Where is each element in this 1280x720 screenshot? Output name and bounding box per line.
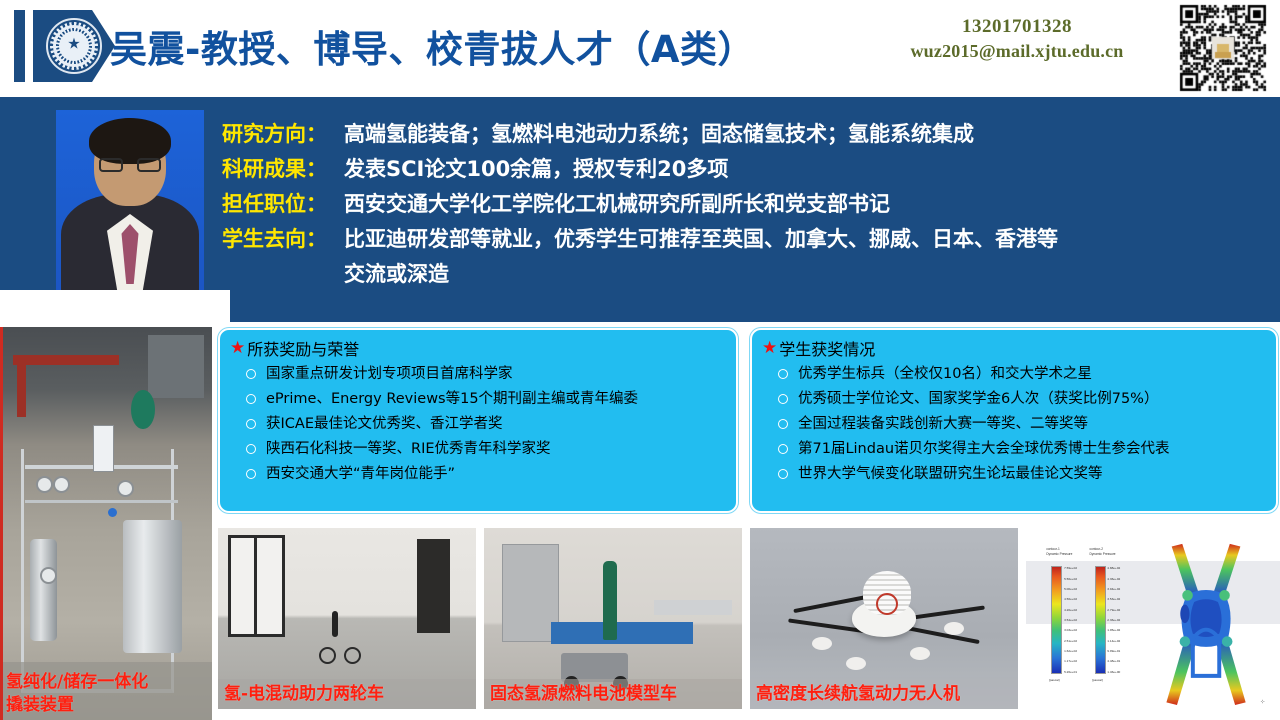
- contact-email: wuz2015@mail.xjtu.edu.cn: [867, 39, 1167, 63]
- cfd-ticks-1: 7.59e+025.56e+025.00e+024.56e+024.20e+02…: [1064, 566, 1097, 674]
- list-item-label: ePrime、Energy Reviews等15个期刊副主编或青年编委: [266, 387, 638, 412]
- list-item: 获ICAE最佳论文优秀奖、香江学者奖: [246, 412, 730, 437]
- photo-hydrogen-electric-hybrid-bike: 氢-电混动助力两轮车: [218, 528, 476, 709]
- star-icon: ★: [762, 340, 777, 357]
- photo-hydrogen-drone: 高密度长续航氢动力无人机: [750, 528, 1018, 709]
- students-box-title: ★ 学生获奖情况: [762, 336, 875, 360]
- list-item: 优秀学生标兵（全校仅10名）和交大学术之星: [778, 362, 1270, 387]
- profile-info-list: 研究方向： 高端氢能装备；氢燃料电池动力系统；固态储氢技术；氢能系统集成 科研成…: [222, 120, 1272, 289]
- awards-list: 国家重点研发计划专项项目首席科学家 ePrime、Energy Reviews等…: [246, 362, 730, 487]
- list-item: 世界大学气候变化联盟研究生论坛最佳论文奖等: [778, 462, 1270, 487]
- circle-bullet-icon: [246, 469, 256, 479]
- profile-label-achievements: 科研成果：: [222, 155, 344, 184]
- students-box-title-text: 学生获奖情况: [779, 336, 875, 360]
- page-title: 吴震-教授、博导、校青拔人才（A类）: [110, 12, 755, 80]
- profile-value-students: 比亚迪研发部等就业，优秀学生可推荐至英国、加拿大、挪威、日本、香港等: [344, 225, 1058, 254]
- cfd-legend-1-title: contour-1 Dynamic Pressure: [1046, 547, 1072, 556]
- list-item-label: 第71届Lindau诺贝尔奖得主大会全球优秀博士生参会代表: [798, 437, 1170, 462]
- students-list: 优秀学生标兵（全校仅10名）和交大学术之星 优秀硕士学位论文、国家奖学金6人次（…: [778, 362, 1270, 487]
- contact-block: 13201701328 wuz2015@mail.xjtu.edu.cn: [867, 14, 1167, 63]
- cfd-colorbar-1: [1051, 566, 1062, 674]
- xjtu-logo-icon: ★: [46, 18, 102, 74]
- profile-label-position: 担任职位：: [222, 190, 344, 219]
- photo-caption: 氢纯化/储存一体化 撬装装置: [6, 671, 148, 717]
- list-item: ePrime、Energy Reviews等15个期刊副主编或青年编委: [246, 387, 730, 412]
- profile-value-position: 西安交通大学化工学院化工机械研究所副所长和党支部书记: [344, 190, 890, 219]
- profile-row-research: 研究方向： 高端氢能装备；氢燃料电池动力系统；固态储氢技术；氢能系统集成: [222, 120, 1272, 149]
- cfd-axis-triad-icon: ⊹: [1261, 699, 1265, 705]
- circle-bullet-icon: [778, 419, 788, 429]
- page-header: ★ 吴震-教授、博导、校青拔人才（A类） 13201701328 wuz2015…: [0, 0, 1280, 97]
- list-item: 西安交通大学“青年岗位能手”: [246, 462, 730, 487]
- circle-bullet-icon: [778, 469, 788, 479]
- student-awards-box: ★ 学生获奖情况 优秀学生标兵（全校仅10名）和交大学术之星 优秀硕士学位论文、…: [750, 328, 1278, 513]
- star-icon: ★: [230, 340, 245, 357]
- awards-box-title: ★ 所获奖励与荣誉: [230, 336, 359, 360]
- list-item: 陕西石化科技一等奖、RIE优秀青年科学家奖: [246, 437, 730, 462]
- profile-row-students: 学生去向： 比亚迪研发部等就业，优秀学生可推荐至英国、加拿大、挪威、日本、香港等: [222, 225, 1272, 254]
- profile-row-achievements: 科研成果： 发表SCI论文100余篇，授权专利20多项: [222, 155, 1272, 184]
- cfd-unit-1: [pascal]: [1049, 678, 1060, 682]
- avatar: [56, 110, 204, 290]
- circle-bullet-icon: [778, 369, 788, 379]
- cfd-unit-2: [pascal]: [1092, 678, 1103, 682]
- contact-phone: 13201701328: [867, 14, 1167, 39]
- circle-bullet-icon: [778, 394, 788, 404]
- list-item-label: 西安交通大学“青年岗位能手”: [266, 462, 455, 487]
- list-item-label: 优秀学生标兵（全校仅10名）和交大学术之星: [798, 362, 1092, 387]
- list-item-label: 获ICAE最佳论文优秀奖、香江学者奖: [266, 412, 502, 437]
- circle-bullet-icon: [246, 444, 256, 454]
- awards-and-honors-box: ★ 所获奖励与荣誉 国家重点研发计划专项项目首席科学家 ePrime、Energ…: [218, 328, 738, 513]
- photo-caption: 固态氢源燃料电池模型车: [490, 683, 677, 706]
- list-item: 全国过程装备实践创新大赛一等奖、二等奖等: [778, 412, 1270, 437]
- photo-hydrogen-purification-skid: 氢纯化/储存一体化 撬装装置: [0, 327, 212, 720]
- wechat-qr-code-icon: [1170, 3, 1276, 93]
- profile-label-research: 研究方向：: [222, 120, 344, 149]
- circle-bullet-icon: [246, 369, 256, 379]
- circle-bullet-icon: [246, 394, 256, 404]
- circle-bullet-icon: [778, 444, 788, 454]
- chart-drone-cfd-dynamic-pressure: contour-1 Dynamic Pressure 7.59e+025.56e…: [1026, 528, 1280, 720]
- awards-box-title-text: 所获奖励与荣誉: [247, 336, 359, 360]
- cfd-ticks-2: 4.88e+024.36e+023.94e+023.53e+022.79e+02…: [1107, 566, 1140, 674]
- list-item: 优秀硕士学位论文、国家奖学金6人次（获奖比例75%）: [778, 387, 1270, 412]
- header-accent-bar: [14, 10, 25, 82]
- list-item: 第71届Lindau诺贝尔奖得主大会全球优秀博士生参会代表: [778, 437, 1270, 462]
- cfd-drone-contour: [1140, 538, 1272, 711]
- list-item-label: 优秀硕士学位论文、国家奖学金6人次（获奖比例75%）: [798, 387, 1158, 412]
- photo-caption: 高密度长续航氢动力无人机: [756, 683, 960, 706]
- list-item-label: 国家重点研发计划专项项目首席科学家: [266, 362, 513, 387]
- photo-caption: 氢-电混动助力两轮车: [224, 683, 384, 706]
- profile-value-achievements: 发表SCI论文100余篇，授权专利20多项: [344, 155, 728, 184]
- left-photo-edge: [0, 327, 3, 720]
- cfd-colorbar-2: [1095, 566, 1106, 674]
- profile-label-students: 学生去向：: [222, 225, 344, 254]
- profile-value-students-line2: 交流或深造: [344, 260, 1272, 289]
- list-item-label: 陕西石化科技一等奖、RIE优秀青年科学家奖: [266, 437, 551, 462]
- profile-value-research: 高端氢能装备；氢燃料电池动力系统；固态储氢技术；氢能系统集成: [344, 120, 974, 149]
- list-item-label: 世界大学气候变化联盟研究生论坛最佳论文奖等: [798, 462, 1103, 487]
- circle-bullet-icon: [246, 419, 256, 429]
- list-item: 国家重点研发计划专项项目首席科学家: [246, 362, 730, 387]
- profile-row-position: 担任职位： 西安交通大学化工学院化工机械研究所副所长和党支部书记: [222, 190, 1272, 219]
- list-item-label: 全国过程装备实践创新大赛一等奖、二等奖等: [798, 412, 1088, 437]
- cfd-legend-2-title: contour-2 Dynamic Pressure: [1090, 547, 1116, 556]
- photo-solid-hydrogen-fuel-cell-model-car: 固态氢源燃料电池模型车: [484, 528, 742, 709]
